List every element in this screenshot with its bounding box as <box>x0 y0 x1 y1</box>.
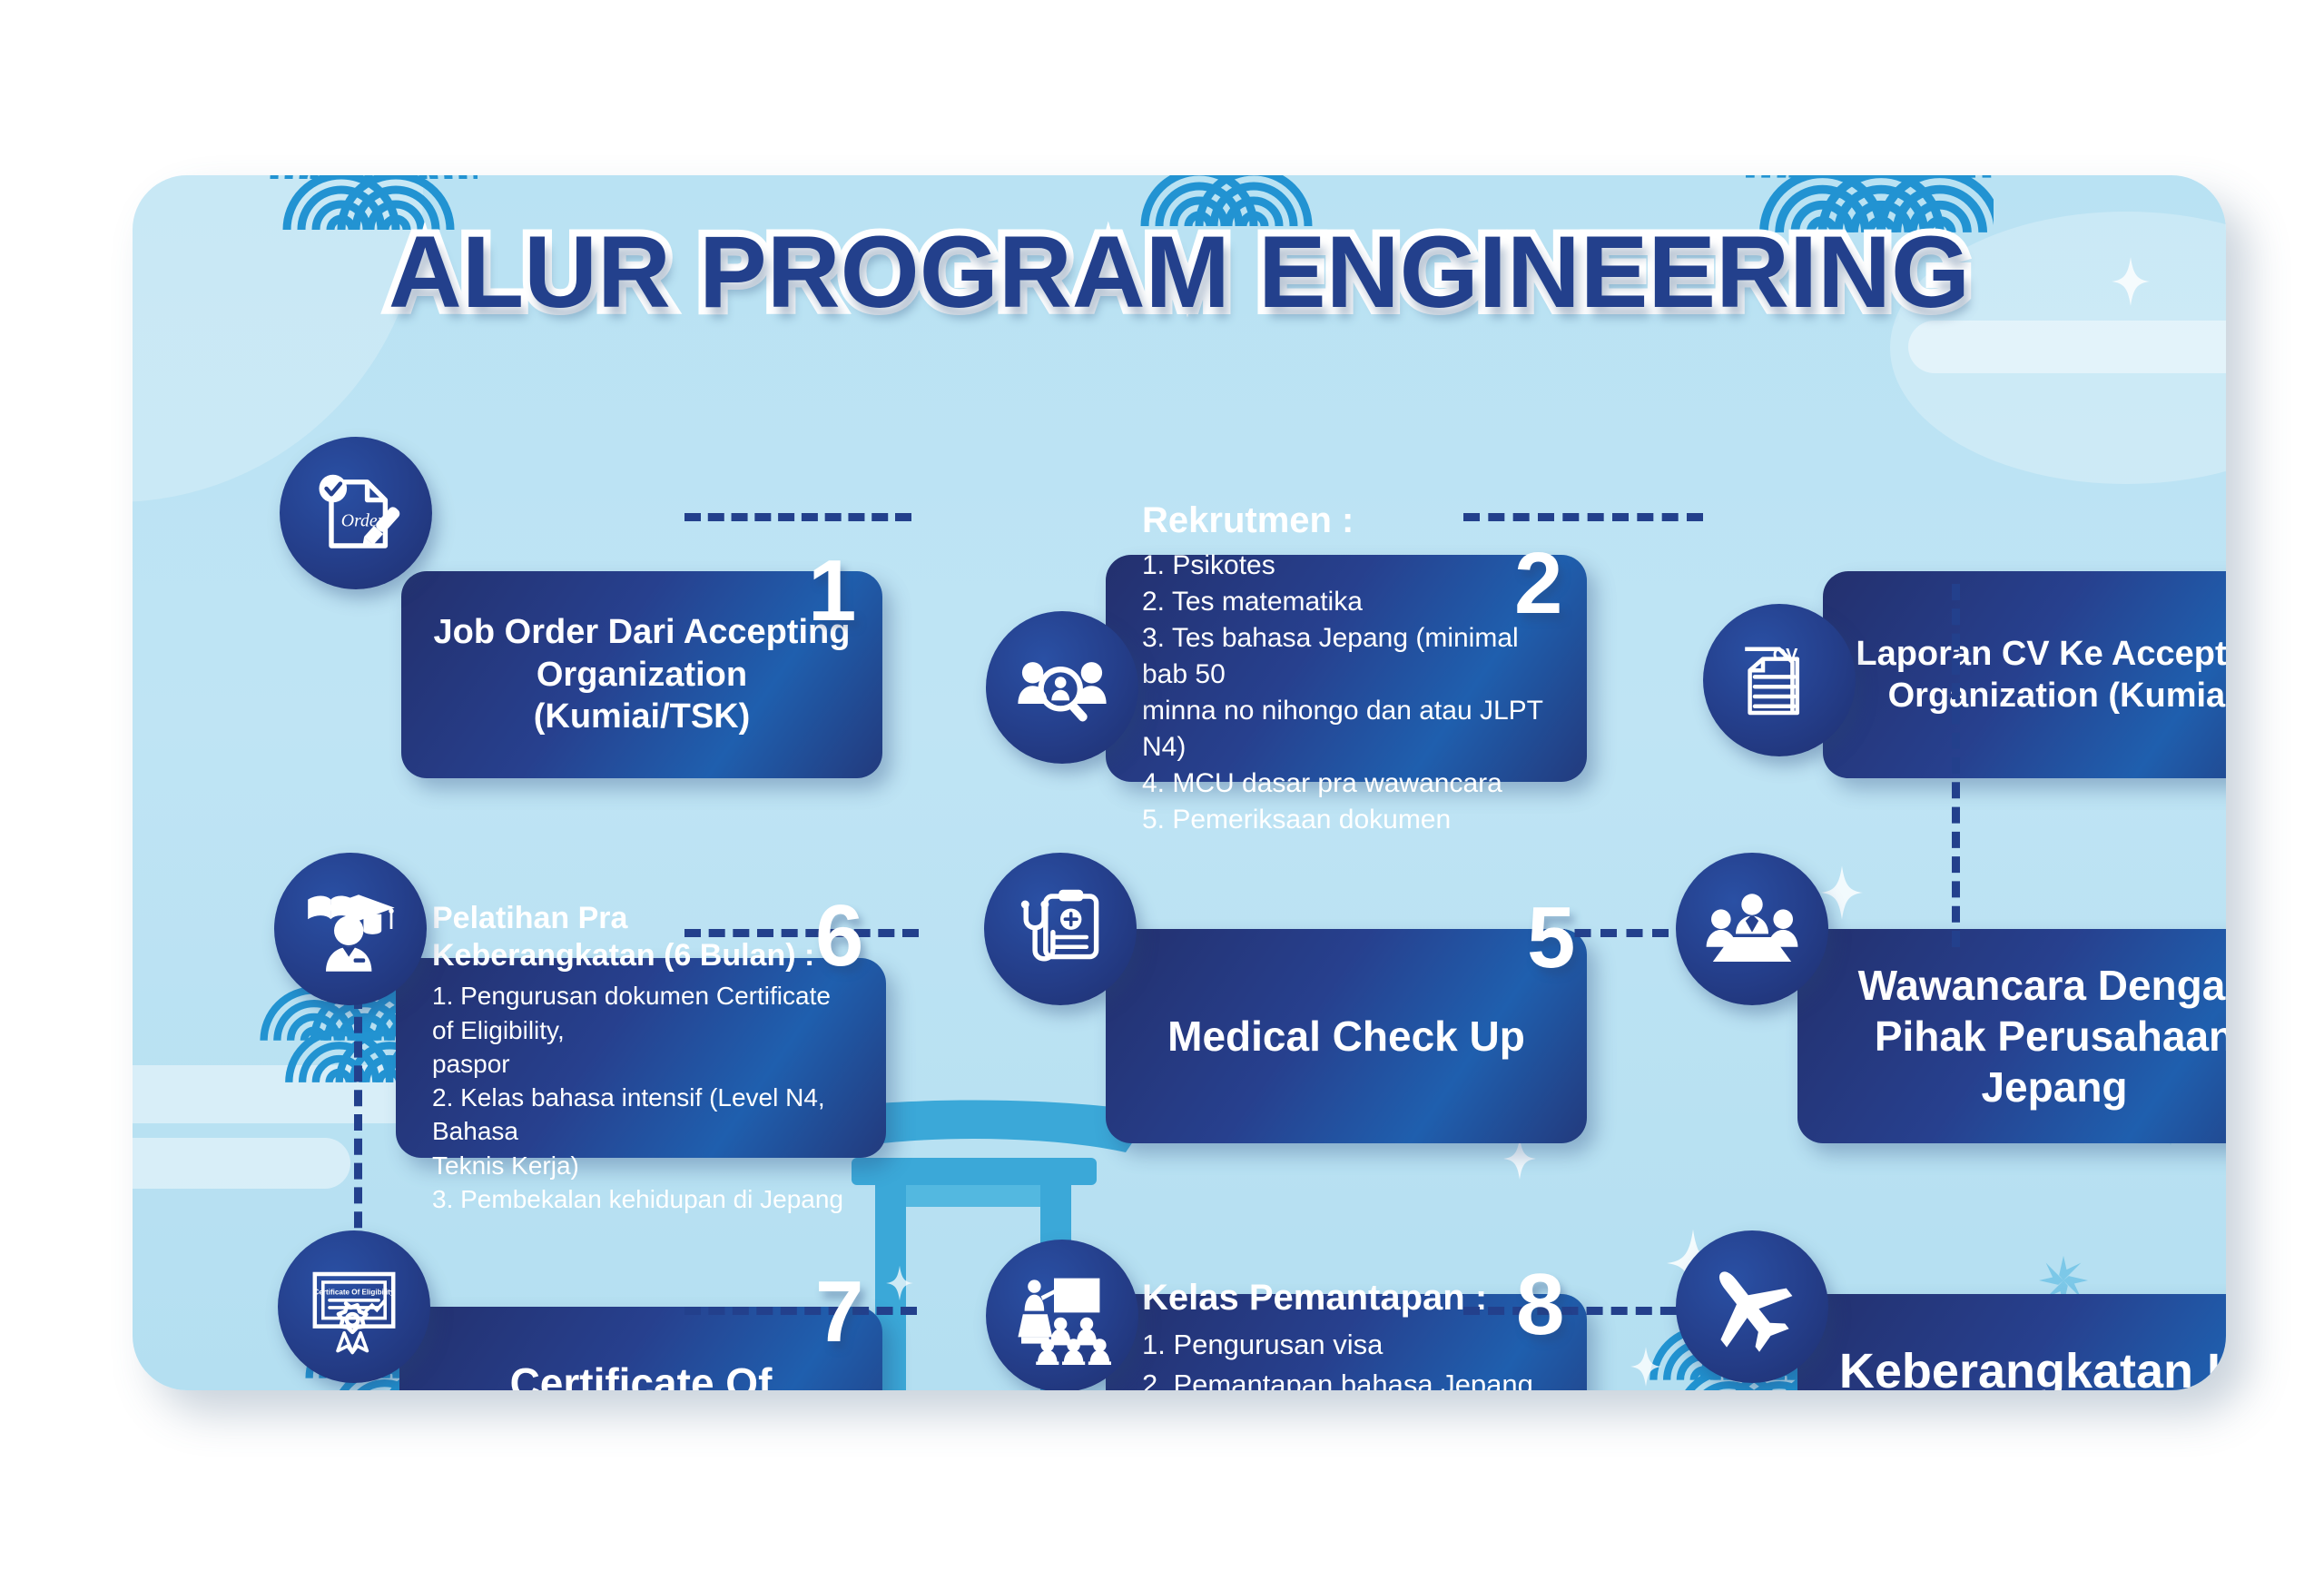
sparkle-icon-3 <box>1503 1138 1536 1180</box>
connector-8-to-9 <box>1463 1307 1701 1315</box>
connector-1-to-2 <box>684 513 911 521</box>
cloud-shape-left-2 <box>133 1138 350 1189</box>
infographic-canvas: ALUR PROGRAM ENGINEERING Order! <box>0 0 2324 1571</box>
airplane-icon <box>1703 1258 1801 1356</box>
list-item: 2. Pemantapan bahasa Jepang <box>1142 1365 1556 1390</box>
sparkle-icon-2 <box>1821 865 1863 920</box>
step-9-title: Keberangkatan Ke Jepang <box>1828 1342 2226 1390</box>
step-5-title: Medical Check Up <box>1167 1011 1525 1062</box>
step-5-badge <box>984 853 1137 1005</box>
list-item: 2. Tes matematika <box>1142 584 1556 620</box>
svg-text:Certificate Of Eligibility: Certificate Of Eligibility <box>314 1289 395 1297</box>
list-item: 2. Kelas bahasa intensif (Level N4, Baha… <box>432 1081 855 1148</box>
step-3-title: Laporan CV Ke Accepting Organization (Ku… <box>1854 633 2226 717</box>
step-1-title: Job Order Dari Accepting Organization (K… <box>432 611 852 737</box>
step-7-title: Certificate Of Eligibility <box>430 1358 852 1390</box>
list-item: minna no nihongo dan atau JLPT N4) <box>1142 693 1556 766</box>
list-item: Teknis Kerja) <box>432 1149 855 1182</box>
step-1-number: 1 <box>808 548 856 635</box>
step-4-title: Wawancara Dengan Pihak Perusahaan Jepang <box>1828 960 2226 1112</box>
step-1-badge: Order! <box>280 437 432 589</box>
list-item: 1. Pengurusan dokumen Certificate of Eli… <box>432 979 855 1046</box>
step-6-badge <box>274 853 427 1005</box>
step-2-badge <box>986 611 1138 764</box>
list-item: 3. Pembekalan kehidupan di Jepang <box>432 1182 855 1216</box>
classroom-teaching-icon <box>1013 1267 1111 1365</box>
step-2-number: 2 <box>1514 540 1562 627</box>
medical-clipboard-icon <box>1011 880 1109 978</box>
connector-7-to-8 <box>684 1307 917 1315</box>
svg-text:CV: CV <box>1773 645 1798 665</box>
connector-3-to-4 <box>1952 584 1960 947</box>
page-title: ALUR PROGRAM ENGINEERING <box>389 215 1970 329</box>
step-7-chip[interactable]: Certificate Of Eligibility <box>399 1307 882 1390</box>
step-2-list: 1. Psikotes 2. Tes matematika 3. Tes bah… <box>1142 548 1556 837</box>
step-8-list: 1. Pengurusan visa 2. Pemantapan bahasa … <box>1142 1325 1556 1390</box>
step-9-badge <box>1676 1230 1828 1383</box>
connector-5-to-6 <box>684 929 919 937</box>
list-item: 4. MCU dasar pra wawancara <box>1142 766 1556 802</box>
cv-document-icon: CV <box>1730 631 1828 729</box>
interview-panel-icon <box>1703 880 1801 978</box>
list-item: 3. Tes bahasa Jepang (minimal bab 50 <box>1142 620 1556 693</box>
list-item: paspor <box>432 1047 855 1081</box>
step-7-number: 7 <box>815 1269 863 1356</box>
step-6-chip[interactable]: Pelatihan Pra Keberangkatan (6 Bulan) : … <box>396 958 886 1158</box>
step-9-chip[interactable]: Keberangkatan Ke Jepang <box>1797 1294 2226 1390</box>
list-item: 1. Psikotes <box>1142 548 1556 584</box>
step-7-badge: Certificate Of Eligibility <box>278 1230 430 1383</box>
sparkle-icon-7 <box>886 1265 913 1301</box>
step-5-chip[interactable]: Medical Check Up <box>1106 929 1587 1143</box>
student-graduation-icon <box>301 880 399 978</box>
step-6-number: 6 <box>815 893 863 980</box>
step-6-list: 1. Pengurusan dokumen Certificate of Eli… <box>432 979 855 1216</box>
list-item: 5. Pemeriksaan dokumen <box>1142 802 1556 838</box>
step-3-chip[interactable]: Laporan CV Ke Accepting Organization (Ku… <box>1823 571 2226 778</box>
step-4-badge <box>1676 853 1828 1005</box>
step-4-chip[interactable]: Wawancara Dengan Pihak Perusahaan Jepang <box>1797 929 2226 1143</box>
poster-card: ALUR PROGRAM ENGINEERING Order! <box>133 175 2226 1390</box>
sparkle-icon-5 <box>1630 1347 1661 1387</box>
recruitment-search-icon <box>1013 638 1111 736</box>
connector-2-to-3 <box>1463 513 1703 521</box>
step-3-badge: CV <box>1703 604 1856 756</box>
step-8-number: 8 <box>1516 1261 1564 1349</box>
order-document-icon: Order! <box>307 464 405 562</box>
list-item: 1. Pengurusan visa <box>1142 1325 1556 1365</box>
certificate-icon: Certificate Of Eligibility <box>305 1258 403 1356</box>
step-8-badge <box>986 1240 1138 1390</box>
step-5-number: 5 <box>1527 894 1575 982</box>
